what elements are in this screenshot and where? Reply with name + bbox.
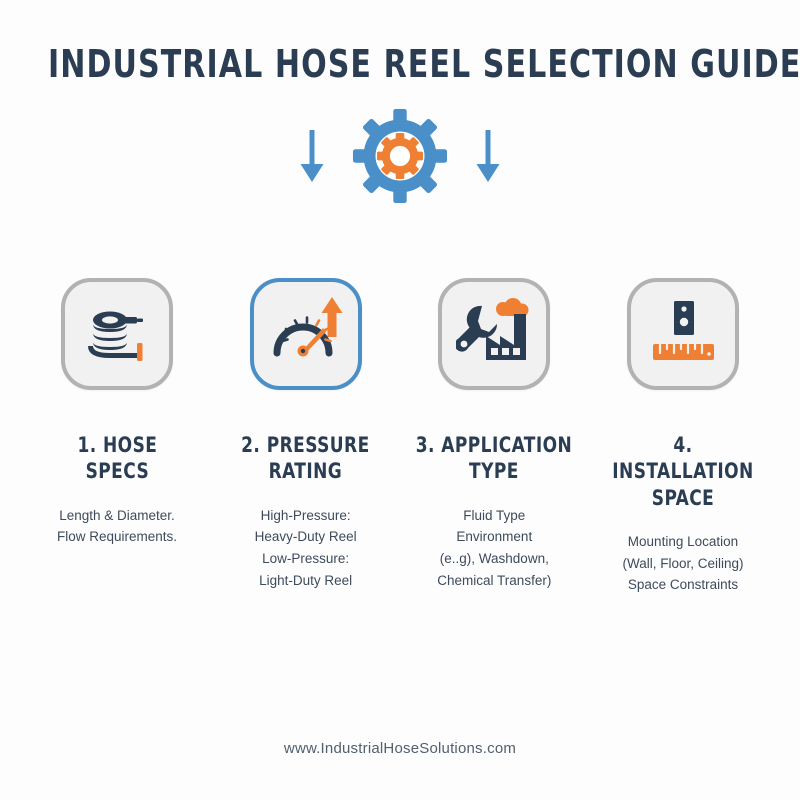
icon-box-installation-space[interactable] xyxy=(627,278,739,390)
card-heading: 3. APPLICATION TYPE xyxy=(416,432,573,485)
page-title: INDUSTRIAL HOSE REEL SELECTION GUIDE xyxy=(48,44,752,86)
card-heading: 2. PRESSURE RATING xyxy=(241,432,370,485)
hose-coil-icon xyxy=(81,296,153,373)
title-block: INDUSTRIAL HOSE REEL SELECTION GUIDE xyxy=(0,44,800,86)
card-body: High-Pressure: Heavy-Duty Reel Low-Press… xyxy=(255,505,357,592)
infographic-page: INDUSTRIAL HOSE REEL SELECTION GUIDE xyxy=(0,0,800,800)
card-pressure-rating[interactable]: 2. PRESSURE RATING High-Pressure: Heavy-… xyxy=(217,278,395,592)
footer: www.IndustrialHoseSolutions.com xyxy=(0,740,800,758)
footer-url[interactable]: www.IndustrialHoseSolutions.com xyxy=(284,740,516,757)
card-hose-specs[interactable]: 1. HOSE SPECS Length & Diameter. Flow Re… xyxy=(28,278,206,548)
arrow-down-icon-left xyxy=(298,128,326,189)
card-row: 1. HOSE SPECS Length & Diameter. Flow Re… xyxy=(28,278,772,596)
pressure-gauge-icon xyxy=(269,295,343,374)
card-body: Fluid Type Environment (e..g), Washdown,… xyxy=(437,505,551,592)
card-heading: 1. HOSE SPECS xyxy=(77,432,157,485)
card-installation-space[interactable]: 4. INSTALLATION SPACE Mounting Location … xyxy=(594,278,772,596)
icon-box-application-type[interactable] xyxy=(438,278,550,390)
gear-arrow-row xyxy=(0,108,800,208)
icon-box-pressure-rating[interactable] xyxy=(250,278,362,390)
card-heading: 4. INSTALLATION SPACE xyxy=(603,432,763,511)
card-body: Mounting Location (Wall, Floor, Ceiling)… xyxy=(622,531,743,597)
gear-icon xyxy=(352,108,448,209)
arrow-down-icon-right xyxy=(474,128,502,189)
icon-box-hose-specs[interactable] xyxy=(61,278,173,390)
card-body: Length & Diameter. Flow Requirements. xyxy=(57,505,177,549)
wrench-factory-icon xyxy=(456,296,532,373)
bracket-ruler-icon xyxy=(647,296,719,373)
card-application-type[interactable]: 3. APPLICATION TYPE Fluid Type Environme… xyxy=(405,278,583,592)
